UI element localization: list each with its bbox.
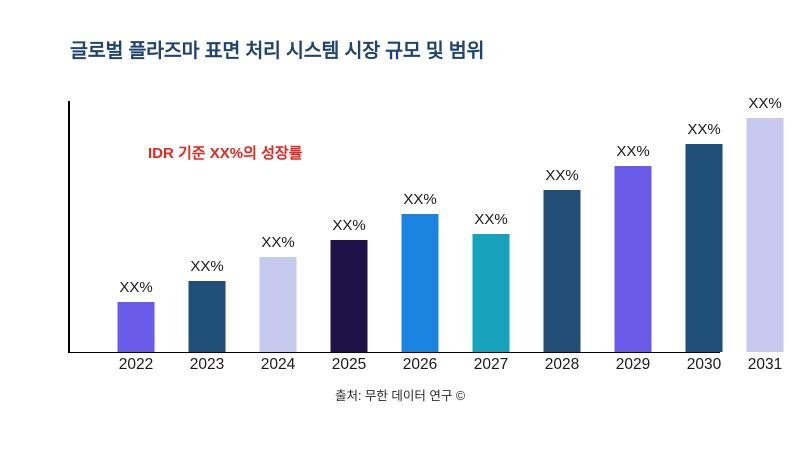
bar[interactable] — [615, 166, 652, 352]
bar-value-label: XX% — [119, 279, 152, 296]
x-axis-tick-2023: 2023 — [169, 356, 245, 374]
source-note: 출처: 무한 데이터 연구 © — [0, 385, 800, 404]
bar[interactable] — [189, 281, 226, 352]
bar-group[interactable]: XX% — [595, 0, 671, 353]
bar[interactable] — [118, 302, 155, 352]
bar-value-label: XX% — [190, 258, 223, 275]
x-axis-tick-2027: 2027 — [453, 356, 529, 374]
bar[interactable] — [747, 118, 784, 352]
x-axis-tick-2024: 2024 — [240, 356, 316, 374]
bar-value-label: XX% — [403, 191, 436, 208]
x-axis-tick-2031: 2031 — [727, 356, 800, 374]
bar-group[interactable]: XX% — [453, 0, 529, 353]
bar[interactable] — [686, 144, 723, 352]
x-axis-tick-2026: 2026 — [382, 356, 458, 374]
bar-value-label: XX% — [261, 234, 294, 251]
bar[interactable] — [260, 257, 297, 352]
bar-value-label: XX% — [616, 143, 649, 160]
bar-chart: 글로벌 플라즈마 표면 처리 시스템 시장 규모 및 범위 미화 백만 달러 I… — [0, 0, 800, 450]
bar-group[interactable]: XX% — [311, 0, 387, 353]
bar-value-label: XX% — [687, 121, 720, 138]
bar-value-label: XX% — [332, 217, 365, 234]
bar-value-label: XX% — [748, 95, 781, 112]
x-axis-tick-2029: 2029 — [595, 356, 671, 374]
bar[interactable] — [473, 234, 510, 352]
bar-group[interactable]: XX% — [524, 0, 600, 353]
bar-group[interactable]: XX% — [98, 0, 174, 353]
bar[interactable] — [544, 190, 581, 352]
bar-value-label: XX% — [545, 167, 578, 184]
bar[interactable] — [331, 240, 368, 352]
bar-group[interactable]: XX% — [240, 0, 316, 353]
bar[interactable] — [402, 214, 439, 352]
x-axis-tick-2025: 2025 — [311, 356, 387, 374]
bar-group[interactable]: XX% — [382, 0, 458, 353]
x-axis-tick-2022: 2022 — [98, 356, 174, 374]
plot-area: XX%XX%XX%XX%XX%XX%XX%XX%XX%XX% — [0, 0, 800, 353]
x-axis-tick-2028: 2028 — [524, 356, 600, 374]
bar-group[interactable]: XX% — [169, 0, 245, 353]
bar-group[interactable]: XX% — [727, 0, 800, 353]
bar-value-label: XX% — [474, 211, 507, 228]
